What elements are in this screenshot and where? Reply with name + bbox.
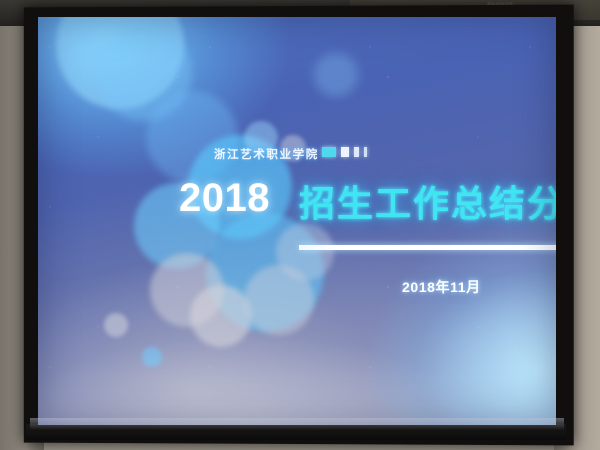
deco-bar-1 bbox=[322, 147, 336, 157]
bokeh-13 bbox=[104, 313, 128, 337]
slide-organization-name: 浙江艺术职业学院 bbox=[214, 146, 319, 162]
slide-decorative-bars bbox=[322, 147, 367, 157]
presentation-slide: 浙江艺术职业学院 2018 招生工作总结分析 2018年11月 bbox=[38, 17, 556, 425]
projector-photo: Realead 浙江艺术职业学院 2018 招生工作总结分析 2018年11月 bbox=[0, 0, 600, 450]
projection-screen-bottom-bar bbox=[26, 424, 566, 440]
bokeh-15 bbox=[314, 53, 358, 97]
slide-date: 2018年11月 bbox=[402, 277, 481, 297]
projection-screen: 浙江艺术职业学院 2018 招生工作总结分析 2018年11月 bbox=[38, 17, 556, 425]
deco-bar-4 bbox=[364, 147, 367, 157]
bokeh-14 bbox=[142, 347, 162, 367]
bokeh-8 bbox=[190, 285, 252, 347]
slide-title-divider bbox=[299, 245, 556, 250]
bokeh-10 bbox=[276, 223, 334, 281]
deco-bar-2 bbox=[341, 147, 349, 157]
deco-bar-3 bbox=[354, 147, 359, 157]
slide-main-title: 招生工作总结分析 bbox=[299, 175, 556, 227]
slide-year-badge: 2018 bbox=[179, 176, 270, 221]
